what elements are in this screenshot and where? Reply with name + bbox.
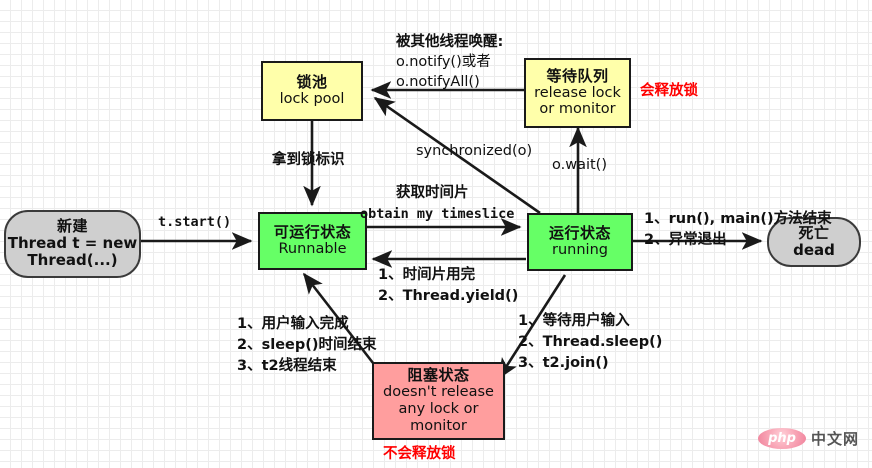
edge-label-to-dead-1: 1、run(), main()方法结束 bbox=[644, 211, 832, 229]
watermark: php 中文网 bbox=[758, 428, 859, 449]
node-running-en: running bbox=[552, 242, 608, 259]
edge-label-synchronized: synchronized(o) bbox=[416, 143, 532, 161]
php-logo-text: php bbox=[768, 431, 796, 446]
node-new-thread[interactable]: 新建 Thread t = new Thread(...) bbox=[4, 210, 141, 278]
edge-label-to-dead-2: 2、异常退出 bbox=[644, 232, 727, 250]
node-blocked-en-3: monitor bbox=[410, 418, 467, 435]
edge-label-blocked-in-2: 2、Thread.sleep() bbox=[518, 334, 662, 352]
php-logo-icon: php bbox=[758, 428, 806, 449]
edge-label-o-wait: o.wait() bbox=[552, 157, 607, 175]
edge-label-notify-line3: o.notifyAll() bbox=[396, 74, 480, 92]
diagram-canvas: 新建 Thread t = new Thread(...) 锁池 lock po… bbox=[0, 0, 872, 468]
node-runnable-en: Runnable bbox=[278, 241, 346, 258]
node-new-thread-en-1: Thread t = new bbox=[8, 235, 137, 252]
node-new-thread-cn: 新建 bbox=[57, 218, 88, 235]
edge-label-t-start: t.start() bbox=[158, 214, 231, 230]
watermark-suffix: 中文网 bbox=[811, 428, 859, 449]
node-running-cn: 运行状态 bbox=[549, 225, 611, 242]
edge-label-obtain-timeslice-en: obtain my timeslice bbox=[360, 206, 514, 222]
node-running[interactable]: 运行状态 running bbox=[527, 213, 633, 271]
node-runnable-cn: 可运行状态 bbox=[274, 224, 352, 241]
node-dead-en: dead bbox=[793, 242, 835, 259]
node-blocked-en-2: any lock or bbox=[399, 401, 479, 418]
edge-label-get-lock-flag: 拿到锁标识 bbox=[272, 152, 345, 170]
node-lock-pool[interactable]: 锁池 lock pool bbox=[261, 61, 363, 121]
edge-label-notify-line1: 被其他线程唤醒: bbox=[396, 34, 503, 52]
node-new-thread-en-2: Thread(...) bbox=[27, 252, 117, 269]
annotation-no-release-lock: 不会释放锁 bbox=[383, 446, 456, 464]
annotation-release-lock: 会释放锁 bbox=[640, 83, 698, 101]
edge-label-back-runnable-2: 2、Thread.yield() bbox=[378, 288, 518, 306]
node-blocked-en-1: doesn't release bbox=[383, 384, 494, 401]
edge-label-blocked-out-2: 2、sleep()时间结束 bbox=[237, 337, 377, 355]
edge-label-notify-line2: o.notify()或者 bbox=[396, 54, 491, 72]
edge-label-blocked-in-3: 3、t2.join() bbox=[518, 355, 609, 373]
node-wait-queue[interactable]: 等待队列 release lock or monitor bbox=[524, 58, 631, 128]
node-runnable[interactable]: 可运行状态 Runnable bbox=[258, 212, 367, 270]
node-blocked-cn: 阻塞状态 bbox=[407, 367, 469, 384]
node-wait-queue-cn: 等待队列 bbox=[546, 68, 608, 85]
edge-label-blocked-out-1: 1、用户输入完成 bbox=[237, 316, 349, 334]
edge-label-back-runnable-1: 1、时间片用完 bbox=[378, 267, 475, 285]
edge-label-blocked-out-3: 3、t2线程结束 bbox=[237, 358, 337, 376]
node-blocked[interactable]: 阻塞状态 doesn't release any lock or monitor bbox=[372, 362, 505, 440]
node-lock-pool-en: lock pool bbox=[280, 91, 345, 108]
node-lock-pool-cn: 锁池 bbox=[296, 74, 327, 91]
node-wait-queue-en-2: or monitor bbox=[539, 101, 615, 118]
node-wait-queue-en-1: release lock bbox=[534, 85, 621, 102]
edge-label-obtain-timeslice-cn: 获取时间片 bbox=[396, 185, 469, 203]
edge-label-blocked-in-1: 1、等待用户输入 bbox=[518, 313, 630, 331]
